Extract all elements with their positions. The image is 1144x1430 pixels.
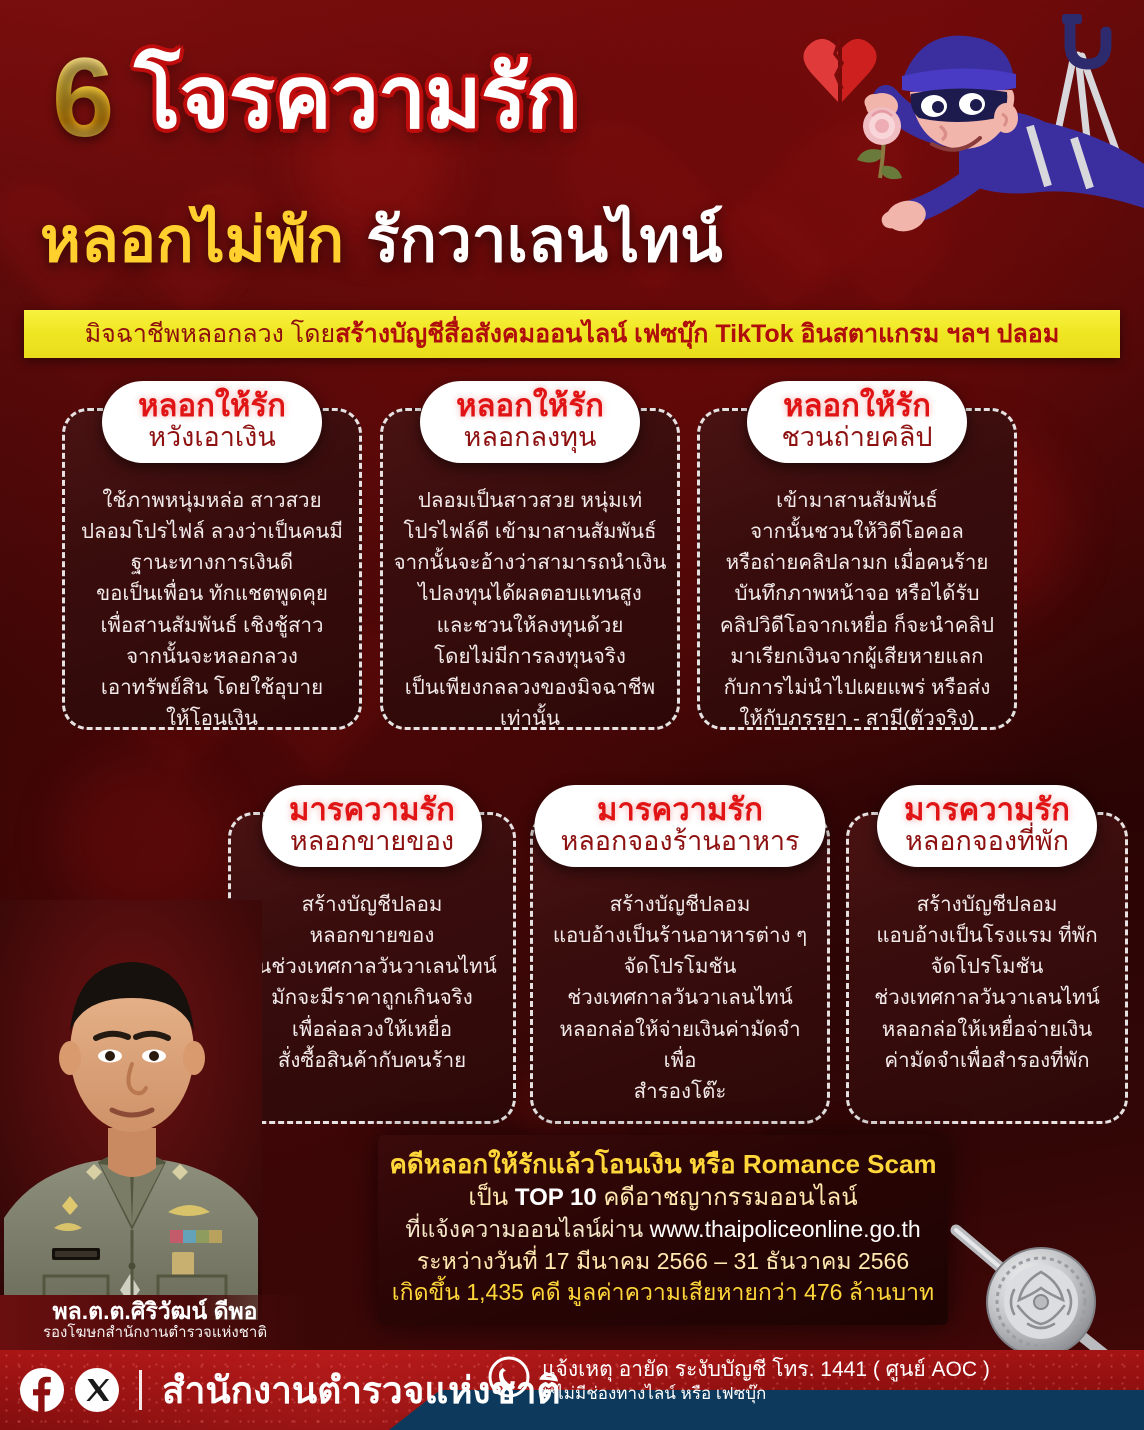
scam-card-2: หลอกให้รัก หลอกลงทุน ปลอมเป็นสาวสวย หนุ่…: [380, 408, 680, 730]
headline-title: โจรความรัก: [134, 55, 577, 141]
card-1-title: หลอกให้รัก: [128, 390, 296, 422]
contact-line-1: แจ้งเหตุ อายัด ระงับบัญชี โทร. 1441 ( ศู…: [542, 1357, 990, 1383]
card-4-title: มารความรัก: [288, 794, 456, 826]
stat-3-pre: ที่แจ้งความออนไลน์ผ่าน: [405, 1216, 649, 1242]
stat-2-pre: เป็น: [468, 1184, 515, 1211]
social-links: สำนักงานตำรวจแห่งชาติ: [20, 1368, 561, 1412]
card-6-pill: มารความรัก หลอกจองที่พัก: [877, 785, 1097, 867]
stat-2-bold: TOP 10: [515, 1184, 597, 1211]
contact-block: แจ้งเหตุ อายัด ระงับบัญชี โทร. 1441 ( ศู…: [488, 1356, 990, 1405]
card-6-title: มารความรัก: [903, 794, 1071, 826]
footer-divider: [139, 1370, 142, 1410]
headline-number: 6: [48, 48, 118, 149]
card-6-body: สร้างบัญชีปลอม แอบอ้างเป็นโรงแรม ที่พัก …: [859, 889, 1115, 1109]
title-row: 6 โจรความรัก: [48, 48, 577, 149]
card-1-subtitle: หวังเอาเงิน: [128, 423, 296, 453]
banner-text: มิจฉาชีพหลอกลวง โดยสร้างบัญชีสื่อสังคมออ…: [85, 314, 1060, 354]
card-3-body: เข้ามาสานสัมพันธ์ จากนั้นชวนให้วิดีโอคอล…: [710, 485, 1004, 715]
card-6-subtitle: หลอกจองที่พัก: [903, 827, 1071, 857]
card-5-subtitle: หลอกจองร้านอาหาร: [560, 827, 799, 857]
card-2-subtitle: หลอกลงทุน: [446, 423, 614, 453]
stat-line-5: เกิดขึ้น 1,435 คดี มูลค่าความเสียหายกว่า…: [378, 1277, 948, 1308]
card-5-title: มารความรัก: [560, 794, 799, 826]
statistics-panel: คดีหลอกให้รักแล้วโอนเงิน หรือ Romance Sc…: [378, 1135, 948, 1325]
subtitle-row: หลอกไม่พัก รักวาเลนไทน์: [40, 210, 723, 272]
card-3-title: หลอกให้รัก: [773, 390, 941, 422]
card-1-pill: หลอกให้รัก หวังเอาเงิน: [102, 381, 322, 463]
yellow-banner: มิจฉาชีพหลอกลวง โดยสร้างบัญชีสื่อสังคมออ…: [24, 310, 1120, 358]
card-1-body: ใช้ภาพหนุ่มหล่อ สาวสวย ปลอมโปรไฟล์ ลวงว่…: [75, 485, 349, 715]
card-5-body: สร้างบัญชีปลอม แอบอ้างเป็นร้านอาหารต่าง …: [543, 889, 817, 1109]
poster-header: 6 โจรความรัก หลอกไม่พัก รักวาเลนไทน์: [0, 0, 1144, 300]
stat-line-2: เป็น TOP 10 คดีอาชญากรรมออนไลน์: [378, 1182, 948, 1214]
stat-line-4: ระหว่างวันที่ 17 มีนาคม 2566 – 31 ธันวาค…: [378, 1246, 948, 1277]
subtitle-white: รักวาเลนไทน์: [366, 210, 722, 272]
stat-2-post: คดีอาชญากรรมออนไลน์: [597, 1184, 858, 1211]
card-2-title: หลอกให้รัก: [446, 390, 614, 422]
bg-bokeh-3: [60, 760, 220, 920]
card-2-pill: หลอกให้รัก หลอกลงทุน: [420, 381, 640, 463]
scam-card-4: มารความรัก หลอกขายของ สร้างบัญชีปลอม หลอ…: [228, 812, 516, 1124]
officer-name: พล.ต.ต.ศิริวัฒน์ ดีพอ: [0, 1299, 310, 1324]
officer-caption: พล.ต.ต.ศิริวัฒน์ ดีพอ รองโฆษกสำนักงานตำร…: [0, 1295, 310, 1353]
phone-icon: [488, 1356, 530, 1403]
infographic-poster: 6 โจรความรัก หลอกไม่พัก รักวาเลนไทน์: [0, 0, 1144, 1430]
banner-lead: มิจฉาชีพหลอกลวง โดย: [85, 320, 335, 348]
card-2-body: ปลอมเป็นสาวสวย หนุ่มเท่ โปรไฟล์ดี เข้ามา…: [393, 485, 667, 715]
scam-card-1: หลอกให้รัก หวังเอาเงิน ใช้ภาพหนุ่มหล่อ ส…: [62, 408, 362, 730]
card-4-subtitle: หลอกขายของ: [288, 827, 456, 857]
subtitle-yellow: หลอกไม่พัก: [40, 210, 344, 272]
scam-card-6: มารความรัก หลอกจองที่พัก สร้างบัญชีปลอม …: [846, 812, 1128, 1124]
stat-line-1: คดีหลอกให้รักแล้วโอนเงิน หรือ Romance Sc…: [378, 1147, 948, 1182]
card-3-subtitle: ชวนถ่ายคลิป: [773, 423, 941, 453]
facebook-icon[interactable]: [20, 1368, 64, 1412]
thaipoliceonline-url[interactable]: www.thaipoliceonline.go.th: [650, 1216, 921, 1242]
card-3-pill: หลอกให้รัก ชวนถ่ายคลิป: [747, 381, 967, 463]
contact-line-2: **ไม่มีช่องทางไลน์ หรือ เฟซบุ๊ก: [542, 1383, 990, 1404]
masked-thief-illustration: [774, 10, 1144, 300]
banner-bold: สร้างบัญชีสื่อสังคมออนไลน์ เฟซบุ๊ก TikTo…: [335, 320, 1059, 348]
x-twitter-icon[interactable]: [75, 1368, 119, 1412]
card-5-pill: มารความรัก หลอกจองร้านอาหาร: [534, 785, 825, 867]
scam-card-3: หลอกให้รัก ชวนถ่ายคลิป เข้ามาสานสัมพันธ์…: [697, 408, 1017, 730]
card-4-pill: มารความรัก หลอกขายของ: [262, 785, 482, 867]
contact-text: แจ้งเหตุ อายัด ระงับบัญชี โทร. 1441 ( ศู…: [542, 1356, 990, 1405]
officer-role: รองโฆษกสำนักงานตำรวจแห่งชาติ: [0, 1324, 310, 1342]
card-4-body: สร้างบัญชีปลอม หลอกขายของ ในช่วงเทศกาลวั…: [241, 889, 503, 1109]
scam-card-5: มารความรัก หลอกจองร้านอาหาร สร้างบัญชีปล…: [530, 812, 830, 1124]
officer-photo: [0, 900, 262, 1320]
stat-line-3: ที่แจ้งความออนไลน์ผ่าน www.thaipoliceonl…: [378, 1214, 948, 1245]
